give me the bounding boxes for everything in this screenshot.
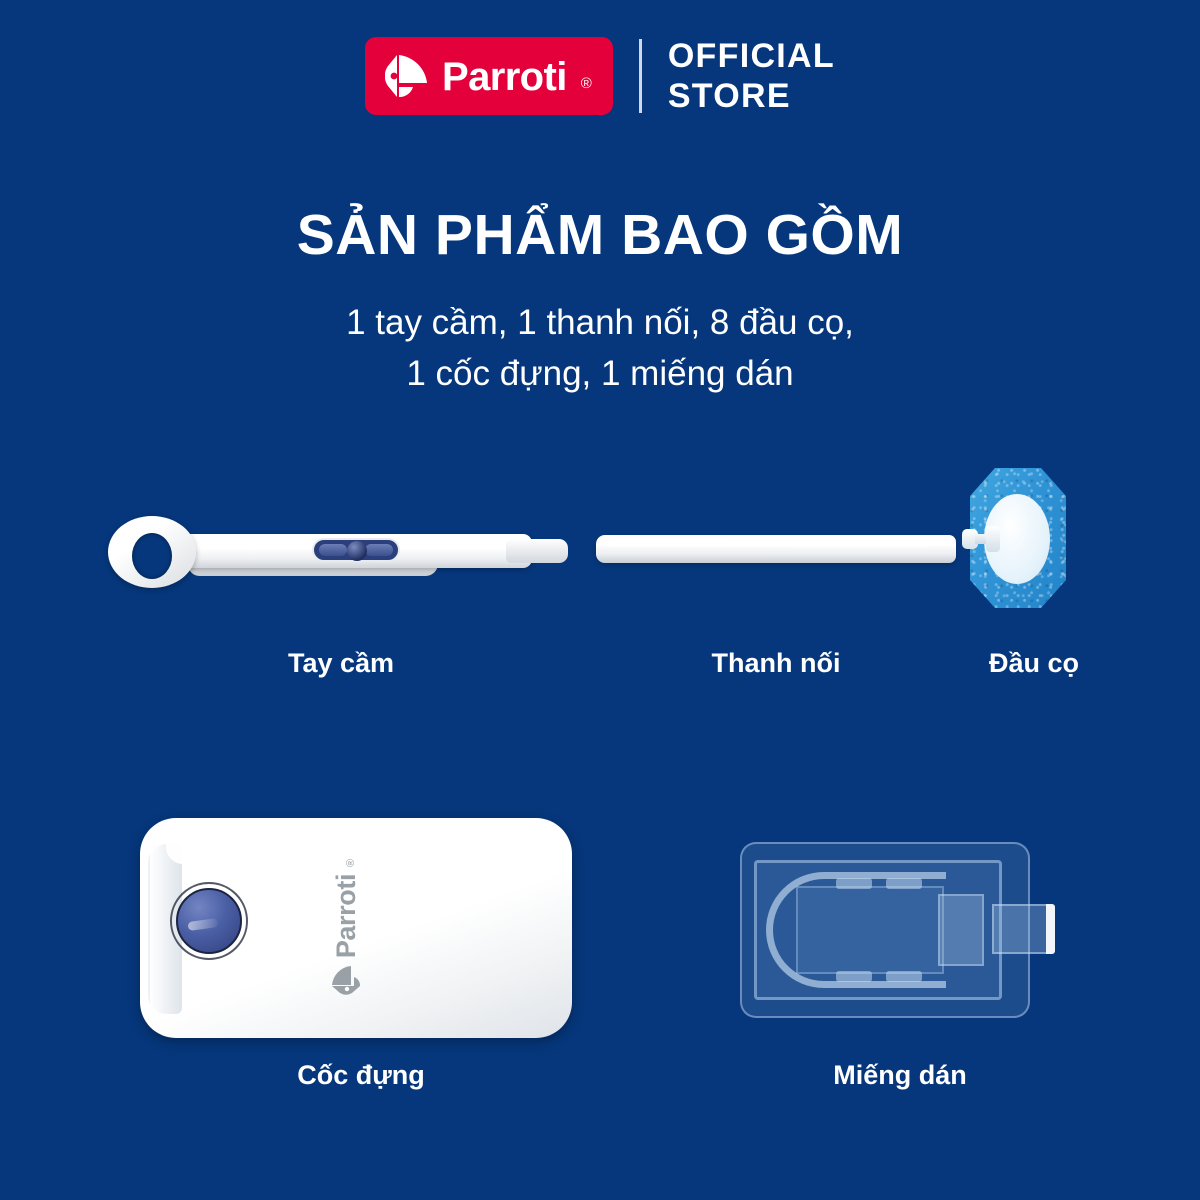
product-image-adhesive-mount bbox=[740, 842, 1056, 1018]
page-subtitle: 1 tay cầm, 1 thanh nối, 8 đầu cọ, 1 cốc … bbox=[0, 298, 1200, 400]
rod-body bbox=[596, 535, 956, 563]
brand-divider bbox=[639, 39, 642, 113]
sticker-tab-edge-highlight bbox=[1046, 904, 1055, 954]
sticker-tab bbox=[992, 904, 1050, 954]
parroti-logo-badge: Parroti ® bbox=[365, 37, 613, 115]
sticker-clip-bottom-2 bbox=[886, 971, 922, 982]
parrot-head-icon-gray bbox=[331, 965, 361, 995]
label-handle: Tay cầm bbox=[288, 648, 394, 679]
handle-power-switch bbox=[312, 538, 400, 562]
parroti-wordmark: Parroti bbox=[442, 57, 567, 97]
cup-registered-mark: ® bbox=[345, 859, 357, 867]
sticker-clip-bottom-1 bbox=[836, 971, 872, 982]
page-title: SẢN PHẨM BAO GỒM bbox=[0, 206, 1200, 266]
handle-loop-hole bbox=[132, 533, 172, 579]
label-sticker: Miếng dán bbox=[833, 1060, 967, 1091]
switch-knob bbox=[347, 541, 367, 561]
cup-release-button bbox=[176, 888, 242, 954]
parrot-head-icon bbox=[385, 53, 429, 99]
handle-connector-tip bbox=[506, 539, 568, 563]
official-store-text: OFFICIAL STORE bbox=[668, 36, 835, 116]
label-cup: Cốc đựng bbox=[297, 1060, 425, 1091]
cup-logo-wordmark: Parroti bbox=[333, 874, 360, 958]
official-line-1: OFFICIAL bbox=[668, 36, 835, 76]
product-image-handle bbox=[108, 498, 568, 598]
official-line-2: STORE bbox=[668, 76, 835, 116]
switch-pad-left bbox=[319, 544, 347, 556]
registered-mark: ® bbox=[581, 76, 592, 91]
cup-parroti-logo: Parroti ® bbox=[271, 899, 421, 955]
product-image-cup: Parroti ® bbox=[140, 818, 572, 1038]
sticker-clip-top-1 bbox=[836, 878, 872, 889]
stud-base bbox=[986, 526, 1000, 552]
product-image-extension-rod bbox=[596, 528, 956, 572]
brand-header: Parroti ® OFFICIAL STORE bbox=[0, 36, 1200, 116]
subtitle-line-2: 1 cốc đựng, 1 miếng dán bbox=[0, 349, 1200, 400]
label-brush: Đầu cọ bbox=[989, 648, 1079, 679]
handle-hanging-loop bbox=[108, 516, 196, 588]
sticker-block bbox=[938, 894, 984, 966]
switch-pad-right bbox=[365, 544, 393, 556]
cup-gloss-highlight bbox=[166, 830, 496, 864]
brush-connector-stud bbox=[962, 526, 1004, 552]
subtitle-line-1: 1 tay cầm, 1 thanh nối, 8 đầu cọ, bbox=[0, 298, 1200, 349]
product-image-brush-head bbox=[962, 468, 1070, 608]
label-rod: Thanh nối bbox=[712, 648, 841, 679]
sticker-clip-top-2 bbox=[886, 878, 922, 889]
